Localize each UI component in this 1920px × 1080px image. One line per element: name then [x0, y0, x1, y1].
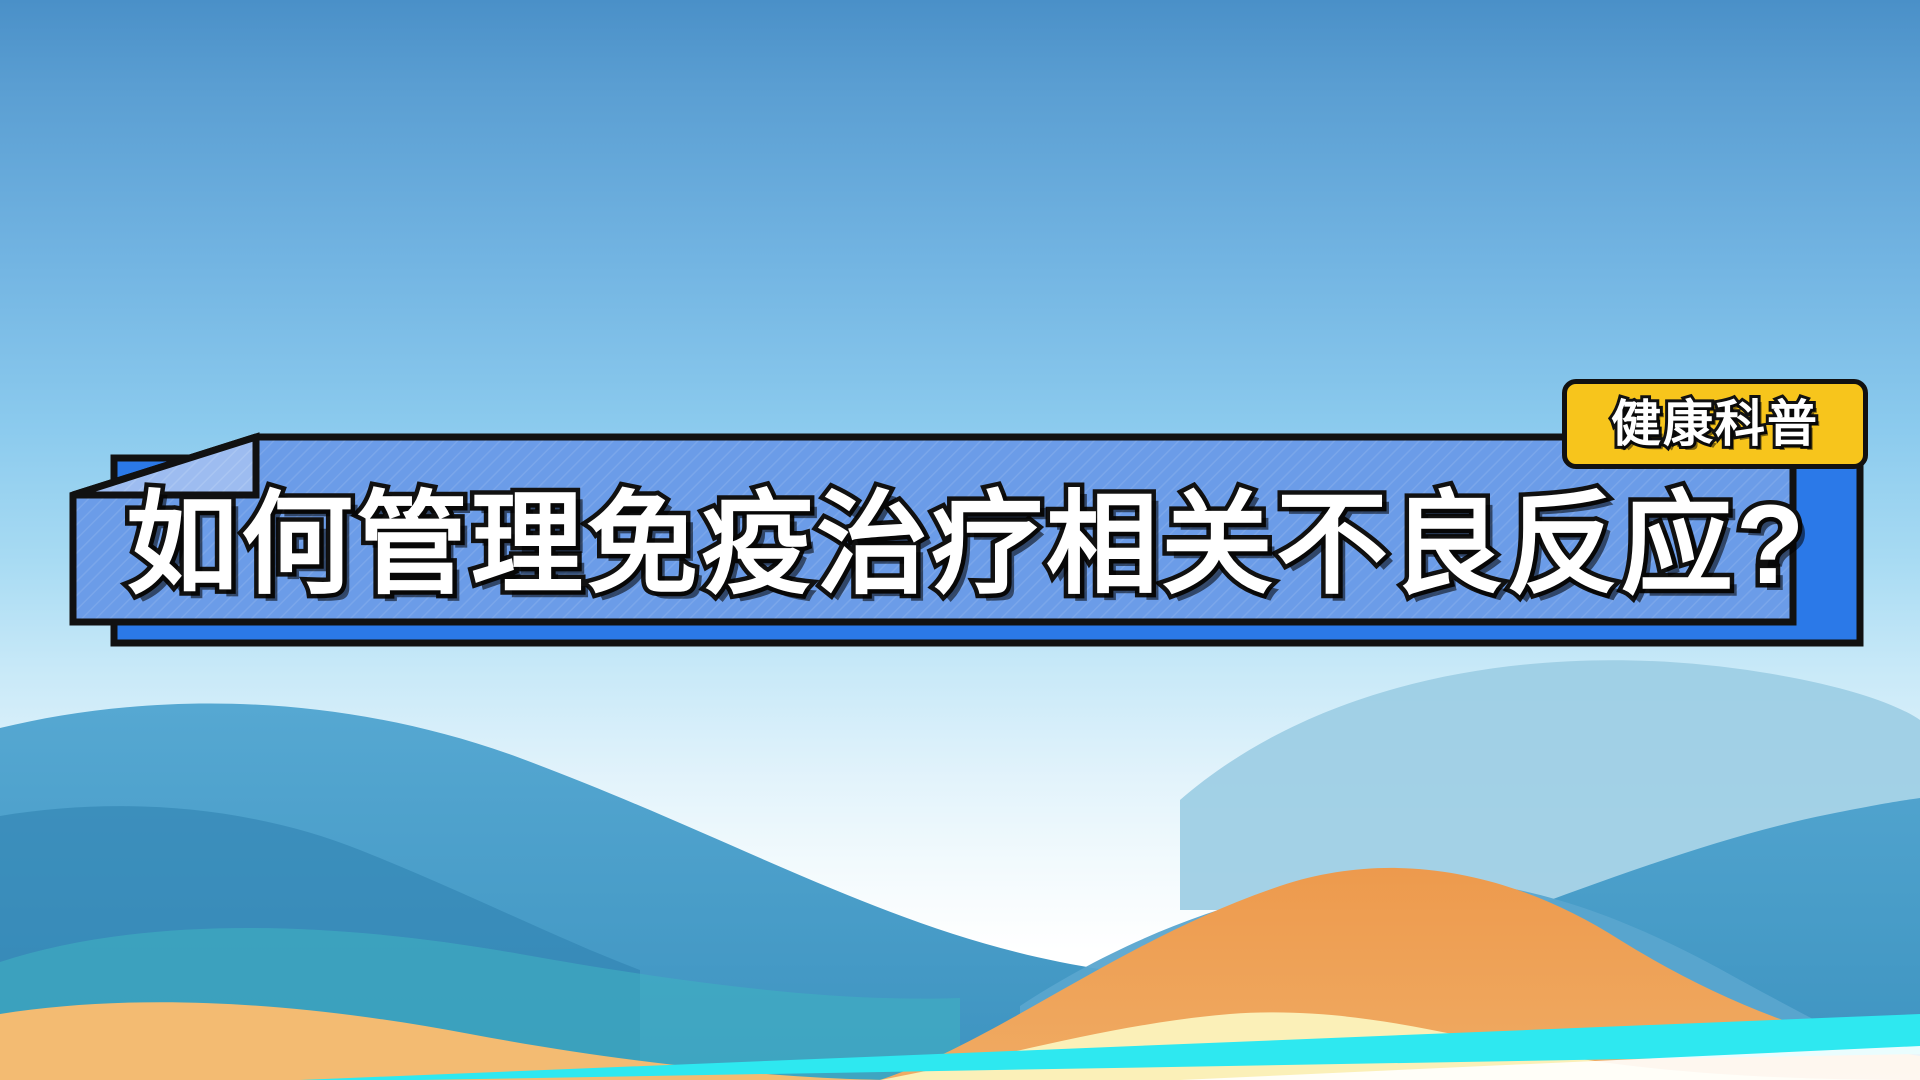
wave-decoration-group [0, 610, 1920, 1080]
page-title: 如何管理免疫治疗相关不良反应? [126, 470, 1786, 620]
slide-canvas: 如何管理免疫治疗相关不良反应? 健康科普 [0, 0, 1920, 1080]
status-badge: 健康科普 [1562, 379, 1868, 469]
status-badge-label: 健康科普 [1611, 399, 1819, 449]
